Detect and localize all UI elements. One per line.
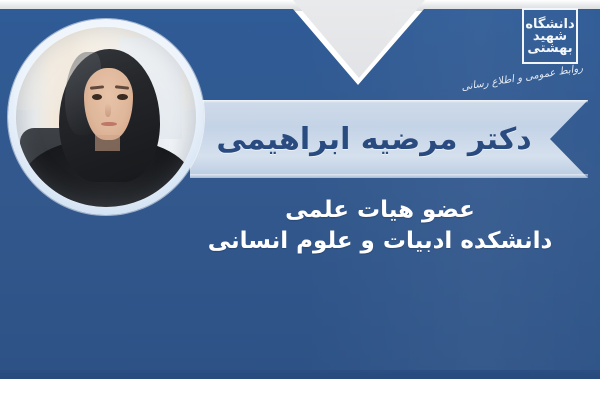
university-logo: دانشگاه شهید بهشتی روابط عمومی و اطلاع ر… bbox=[488, 6, 584, 88]
blue-panel-bottom-edge bbox=[0, 370, 600, 379]
photo-mouth bbox=[101, 122, 117, 127]
faculty-line: دانشکده ادبیات و علوم انسانی bbox=[180, 227, 580, 257]
logo-box-inner: دانشگاه شهید بهشتی bbox=[524, 10, 576, 62]
logo-box-frame: دانشگاه شهید بهشتی bbox=[522, 8, 578, 64]
logo-line-3: بهشتی bbox=[527, 42, 572, 55]
photo-eye-right bbox=[117, 94, 128, 100]
subtitle-block: عضو هیات علمی دانشکده ادبیات و علوم انسا… bbox=[180, 196, 580, 257]
bottom-white-margin bbox=[0, 379, 600, 400]
photo-eye-left bbox=[92, 94, 103, 100]
portrait-photo bbox=[16, 27, 196, 207]
role-line: عضو هیات علمی bbox=[180, 196, 580, 225]
photo-nose bbox=[105, 103, 111, 117]
photo-neck bbox=[95, 135, 120, 151]
person-name: دکتر مرضیه ابراهیمی bbox=[190, 100, 558, 178]
poster-canvas: دانشگاه شهید بهشتی روابط عمومی و اطلاع ر… bbox=[0, 0, 600, 400]
